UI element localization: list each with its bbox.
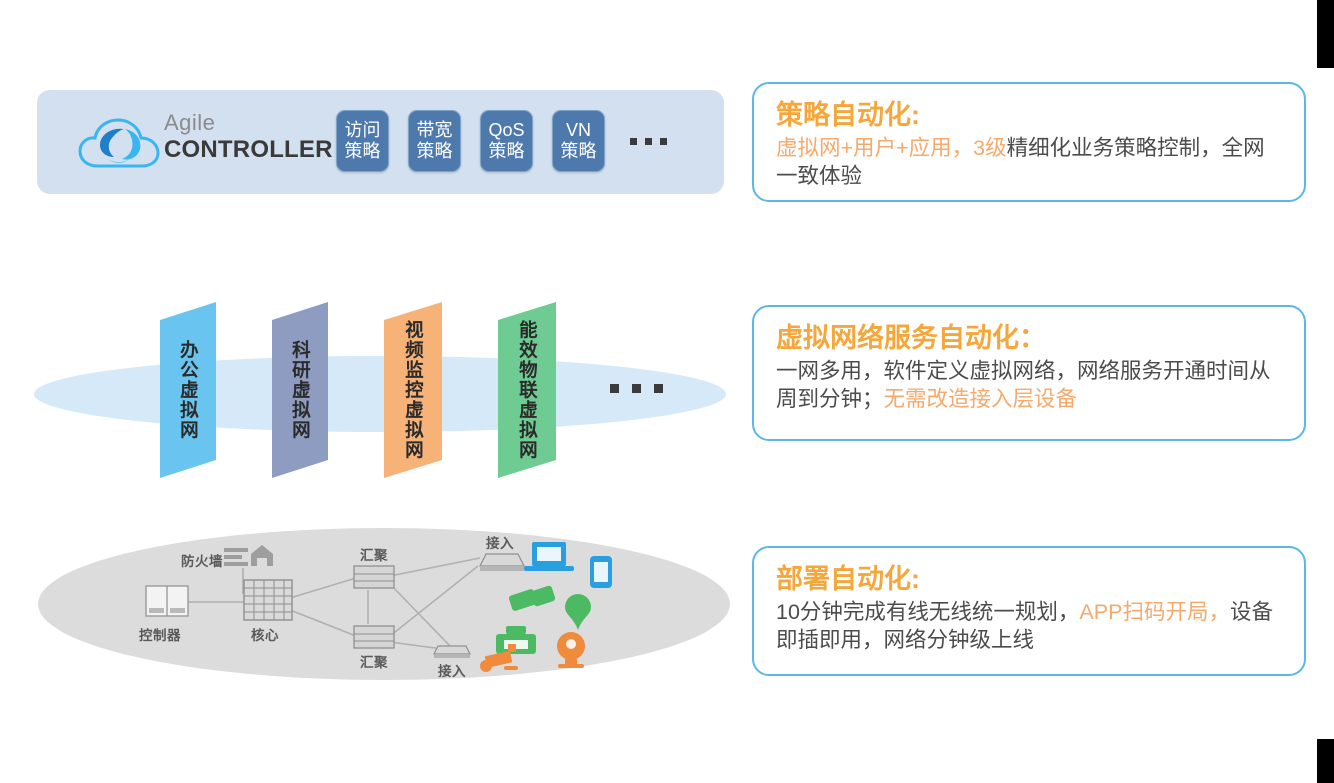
controller-node-icon	[146, 586, 188, 616]
diagram-canvas: Agile CONTROLLER 访问 策略 带宽 策略 QoS 策略 VN 策…	[0, 0, 1334, 783]
virtual-networks-panel: 办公虚拟网 科研虚拟网 视频监控 虚拟网 能效物联 虚拟网	[0, 296, 740, 496]
vn-slab-iot-label-col2: 虚拟网	[517, 400, 538, 460]
policy-button-vn-line2: 策略	[561, 141, 597, 162]
policy-button-qos-line2: 策略	[489, 141, 525, 162]
core-switch-node-icon	[244, 580, 292, 620]
endpoint-sensor-tag-icon	[508, 585, 556, 612]
vn-slab-video-label: 视频监控 虚拟网	[384, 302, 442, 478]
vn-slab-video-label-col1: 视频监控	[403, 320, 424, 400]
vn-more-ellipsis-icon	[610, 384, 663, 393]
endpoint-tablet-icon	[590, 556, 612, 588]
vn-slab-office[interactable]: 办公虚拟网	[160, 302, 216, 478]
policy-button-qos-line1: QoS	[488, 120, 524, 141]
card-policy-automation-title: 策略自动化:	[776, 100, 1284, 132]
vn-slab-research[interactable]: 科研虚拟网	[272, 302, 328, 478]
card-virtual-network-automation: 虚拟网络服务自动化： 一网多用，软件定义虚拟网络，网络服务开通时间从周到分钟；无…	[752, 305, 1306, 441]
policy-button-bandwidth-line1: 带宽	[417, 120, 453, 141]
card-virtual-network-automation-body: 一网多用，软件定义虚拟网络，网络服务开通时间从周到分钟；无需改造接入层设备	[776, 357, 1284, 414]
aggregation-bottom-node-icon	[354, 626, 394, 648]
firewall-node-icon	[224, 545, 273, 566]
policy-button-bandwidth[interactable]: 带宽 策略	[408, 110, 461, 172]
endpoint-laptop-icon	[524, 542, 574, 571]
endpoint-light-bulb-icon	[565, 594, 591, 630]
logo-wordmark: Agile CONTROLLER	[164, 112, 333, 162]
topology-label-access-bottom: 接入	[438, 660, 466, 680]
edge-bar-top	[1317, 0, 1334, 68]
policy-button-access[interactable]: 访问 策略	[336, 110, 389, 172]
vn-slab-iot-label-col1: 能效物联	[517, 320, 538, 400]
topology-label-agg-top: 汇聚	[360, 544, 388, 564]
policy-button-bandwidth-line2: 策略	[417, 141, 453, 162]
card-policy-automation-body: 虚拟网+用户+应用，3级精细化业务策略控制，全网一致体验	[776, 134, 1284, 191]
virtual-network-backbone-ellipse	[34, 356, 726, 432]
vn-slab-office-label: 办公虚拟网	[160, 302, 216, 478]
policy-more-ellipsis-icon	[630, 138, 667, 145]
access-bottom-node-icon	[434, 646, 470, 658]
topology-label-controller: 控制器	[139, 624, 181, 644]
topology-label-firewall: 防火墙	[181, 550, 223, 570]
vn-slab-research-label: 科研虚拟网	[272, 302, 328, 478]
card-deployment-automation: 部署自动化: 10分钟完成有线无线统一规划，APP扫码开局，设备即插即用，网络分…	[752, 546, 1306, 676]
policy-button-vn[interactable]: VN 策略	[552, 110, 605, 172]
card-deployment-automation-body: 10分钟完成有线无线统一规划，APP扫码开局，设备即插即用，网络分钟级上线	[776, 598, 1284, 655]
card-virtual-network-automation-body-part-2: 无需改造接入层设备	[884, 387, 1078, 411]
vn-slab-video-label-col2: 虚拟网	[403, 400, 424, 460]
policy-button-qos[interactable]: QoS 策略	[480, 110, 533, 172]
aggregation-top-node-icon	[354, 566, 394, 588]
topology-label-core: 核心	[251, 624, 279, 644]
policy-button-access-line2: 策略	[345, 141, 381, 162]
card-policy-automation: 策略自动化: 虚拟网+用户+应用，3级精细化业务策略控制，全网一致体验	[752, 82, 1306, 202]
policy-button-vn-line1: VN	[566, 120, 591, 141]
access-top-node-icon	[480, 554, 524, 571]
card-deployment-automation-body-part-1: 10分钟完成有线无线统一规划，	[776, 600, 1079, 624]
card-virtual-network-automation-title: 虚拟网络服务自动化：	[776, 323, 1284, 355]
topology-graph	[38, 518, 738, 690]
topology-label-access-top: 接入	[486, 532, 514, 552]
agile-controller-logo: Agile CONTROLLER	[78, 112, 318, 174]
logo-brand-bottom: CONTROLLER	[164, 137, 333, 162]
vn-slab-iot[interactable]: 能效物联 虚拟网	[498, 302, 556, 478]
card-policy-automation-body-part-1: 虚拟网+用户+应用，3级	[776, 136, 1007, 160]
topology-label-agg-bottom: 汇聚	[360, 651, 388, 671]
card-deployment-automation-title: 部署自动化:	[776, 564, 1284, 596]
topology-panel: 控制器 防火墙 核心 汇聚 汇聚 接入 接入	[38, 518, 738, 690]
logo-brand-top: Agile	[164, 112, 333, 134]
edge-bar-bottom	[1317, 739, 1334, 783]
vn-slab-iot-label: 能效物联 虚拟网	[498, 302, 556, 478]
card-deployment-automation-body-part-2: APP扫码开局，	[1079, 600, 1230, 624]
policy-button-row: 访问 策略 带宽 策略 QoS 策略 VN 策略	[336, 110, 667, 172]
policy-button-access-line1: 访问	[345, 120, 381, 141]
topology-links	[188, 558, 480, 650]
agile-controller-panel: Agile CONTROLLER 访问 策略 带宽 策略 QoS 策略 VN 策…	[37, 90, 724, 194]
vn-slab-video[interactable]: 视频监控 虚拟网	[384, 302, 442, 478]
cloud-swirl-icon	[78, 116, 160, 171]
endpoint-webcam-icon	[557, 632, 585, 668]
